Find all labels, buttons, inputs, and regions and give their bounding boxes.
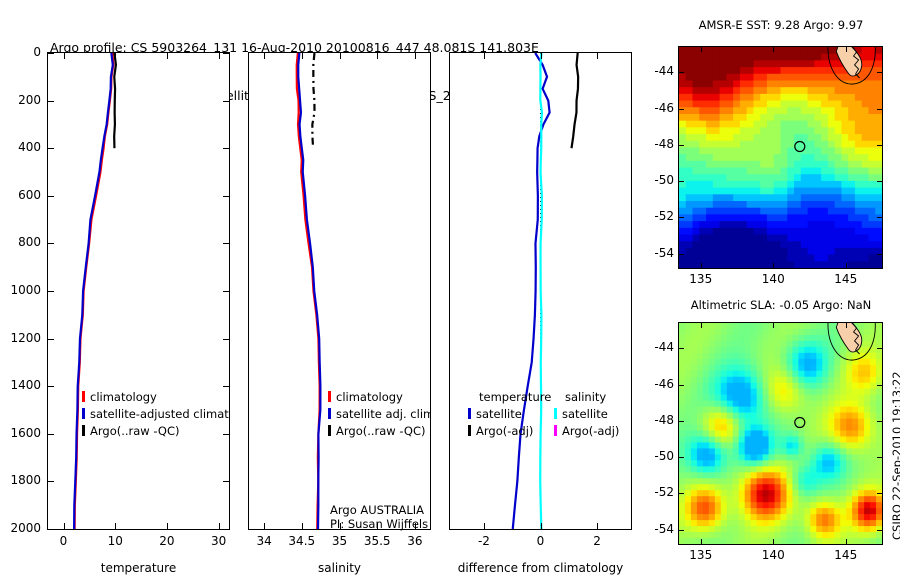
- sst-cell: [848, 154, 855, 161]
- sst-cell: [726, 101, 733, 108]
- sla-cell: [757, 490, 764, 497]
- sla-cell: [703, 377, 710, 384]
- sla-cell: [804, 335, 811, 342]
- sla-cell: [852, 442, 859, 449]
- sst-cell: [814, 235, 821, 242]
- sla-cell: [816, 496, 823, 503]
- sst-cell: [821, 47, 828, 54]
- sla-cell: [727, 431, 734, 438]
- sst-cell: [686, 235, 693, 242]
- sla-cell: [810, 425, 817, 432]
- sla-cell: [709, 502, 716, 509]
- sla-cell: [840, 383, 847, 390]
- sla-cell: [769, 365, 776, 372]
- sla-cell: [846, 454, 853, 461]
- sst-cell: [753, 74, 760, 81]
- difference-profile-curves: [450, 53, 631, 529]
- sla-cell: [834, 442, 841, 449]
- sla-cell: [864, 341, 871, 348]
- sla-cell: [709, 484, 716, 491]
- sst-cell: [821, 147, 828, 154]
- sla-cell: [679, 377, 686, 384]
- sla-cell: [792, 460, 799, 467]
- sst-cell: [848, 94, 855, 101]
- sla-cell: [828, 472, 835, 479]
- sst-cell: [828, 114, 835, 121]
- sst-cell: [781, 141, 788, 148]
- sla-cell: [757, 466, 764, 473]
- map-y-tick-label: -52: [644, 209, 674, 223]
- sla-cell: [769, 532, 776, 539]
- sla-cell: [715, 347, 722, 354]
- sla-cell: [757, 389, 764, 396]
- sst-cell: [726, 194, 733, 201]
- sla-cell: [727, 514, 734, 521]
- sst-cell: [753, 228, 760, 235]
- sla-cell: [763, 454, 770, 461]
- sst-cell: [760, 208, 767, 215]
- sla-cell: [781, 329, 788, 336]
- sst-cell: [767, 161, 774, 168]
- sla-cell: [852, 377, 859, 384]
- sla-cell: [697, 514, 704, 521]
- sla-map-raster: [679, 323, 882, 544]
- sla-cell: [733, 520, 740, 527]
- sla-cell: [739, 425, 746, 432]
- sla-cell: [822, 502, 829, 509]
- sst-cell: [753, 54, 760, 61]
- sla-cell: [763, 401, 770, 408]
- sst-cell: [794, 80, 801, 87]
- sla-cell: [709, 460, 716, 467]
- sla-cell: [679, 532, 686, 539]
- sst-cell: [774, 87, 781, 94]
- sla-cell: [763, 496, 770, 503]
- sst-map-title-wrap: AMSR-E SST: 9.28 Argo: 9.97: [672, 18, 890, 34]
- sst-cell: [753, 60, 760, 67]
- sla-cell: [852, 419, 859, 426]
- sla-cell: [709, 341, 716, 348]
- sst-cell: [808, 101, 815, 108]
- sla-cell: [757, 514, 764, 521]
- sla-cell: [876, 431, 882, 438]
- sst-cell: [713, 80, 720, 87]
- sla-cell: [858, 425, 865, 432]
- sst-cell: [848, 127, 855, 134]
- sla-cell: [727, 335, 734, 342]
- sst-cell: [774, 101, 781, 108]
- sla-cell: [733, 389, 740, 396]
- sla-cell: [781, 478, 788, 485]
- sst-cell: [787, 121, 794, 128]
- sla-cell: [691, 329, 698, 336]
- sst-cell: [747, 248, 754, 255]
- sst-cell: [686, 154, 693, 161]
- sst-cell: [835, 101, 842, 108]
- sla-cell: [727, 460, 734, 467]
- sst-cell: [740, 134, 747, 141]
- sla-cell: [828, 502, 835, 509]
- sla-cell: [715, 365, 722, 372]
- sla-cell: [834, 425, 841, 432]
- sst-cell: [747, 235, 754, 242]
- sla-cell: [834, 395, 841, 402]
- sla-cell: [834, 401, 841, 408]
- sla-cell: [834, 460, 841, 467]
- sst-cell: [767, 174, 774, 181]
- sla-cell: [828, 395, 835, 402]
- sst-cell: [794, 214, 801, 221]
- sst-cell: [760, 107, 767, 114]
- sla-cell: [763, 419, 770, 426]
- series-temperature-satellite: [513, 53, 550, 529]
- legend-item-salinity-satellite: satellite: [554, 407, 608, 421]
- sla-cell: [792, 359, 799, 366]
- sst-cell: [699, 87, 706, 94]
- sla-cell: [715, 383, 722, 390]
- sst-cell: [868, 241, 875, 248]
- sst-cell: [868, 154, 875, 161]
- sla-cell: [816, 389, 823, 396]
- axis-tick: [48, 529, 54, 530]
- sla-cell: [733, 448, 740, 455]
- sst-cell: [747, 107, 754, 114]
- sla-cell: [834, 478, 841, 485]
- sla-cell: [691, 514, 698, 521]
- sla-cell: [792, 484, 799, 491]
- sla-cell: [691, 389, 698, 396]
- sla-cell: [822, 472, 829, 479]
- map-axis-tick: [877, 457, 882, 458]
- sla-cell: [727, 508, 734, 515]
- sla-cell: [864, 460, 871, 467]
- sla-cell: [816, 514, 823, 521]
- sst-cell: [693, 67, 700, 74]
- sla-cell: [727, 407, 734, 414]
- sst-cell: [693, 248, 700, 255]
- sst-cell: [726, 80, 733, 87]
- sla-cell: [685, 442, 692, 449]
- axis-tick: [48, 339, 54, 340]
- sla-cell: [858, 383, 865, 390]
- sst-cell: [720, 241, 727, 248]
- map-axis-tick: [679, 457, 684, 458]
- sla-cell: [679, 353, 686, 360]
- sla-cell: [858, 442, 865, 449]
- sst-cell: [855, 174, 862, 181]
- sla-cell: [870, 532, 877, 539]
- sla-cell: [781, 365, 788, 372]
- sla-cell: [864, 520, 871, 527]
- sst-cell: [828, 134, 835, 141]
- sst-cell: [713, 261, 720, 268]
- sst-cell: [814, 114, 821, 121]
- sla-cell: [816, 448, 823, 455]
- axis-tick: [223, 529, 229, 530]
- sla-cell: [810, 395, 817, 402]
- sla-cell: [691, 371, 698, 378]
- map-axis-tick: [701, 263, 702, 268]
- sla-cell: [846, 395, 853, 402]
- sst-cell: [821, 121, 828, 128]
- legend-item-salinity-argo: Argo(-adj): [554, 424, 619, 438]
- sla-cell: [745, 448, 752, 455]
- sla-cell: [798, 478, 805, 485]
- sla-cell: [834, 371, 841, 378]
- sst-cell: [801, 221, 808, 228]
- sst-cell: [693, 168, 700, 175]
- sst-cell: [733, 147, 740, 154]
- sst-cell: [720, 161, 727, 168]
- depth-tick-label: 200: [0, 93, 41, 107]
- sla-cell: [757, 448, 764, 455]
- sla-cell: [685, 508, 692, 515]
- sla-cell: [822, 377, 829, 384]
- sla-cell: [739, 389, 746, 396]
- sla-cell: [828, 496, 835, 503]
- sla-cell: [798, 472, 805, 479]
- sla-cell: [727, 389, 734, 396]
- sst-cell: [767, 235, 774, 242]
- sla-cell: [792, 466, 799, 473]
- sla-cell: [834, 448, 841, 455]
- sla-cell: [828, 466, 835, 473]
- sst-cell: [740, 147, 747, 154]
- sst-cell: [733, 235, 740, 242]
- sst-cell: [828, 248, 835, 255]
- sla-cell: [769, 496, 776, 503]
- sst-cell: [828, 194, 835, 201]
- sla-cell: [691, 454, 698, 461]
- sla-cell: [697, 341, 704, 348]
- sla-cell: [876, 460, 882, 467]
- sla-cell: [870, 359, 877, 366]
- sst-cell: [693, 127, 700, 134]
- sst-cell: [787, 228, 794, 235]
- sla-cell: [840, 431, 847, 438]
- sla-cell: [840, 496, 847, 503]
- sst-cell: [828, 214, 835, 221]
- sla-cell: [870, 383, 877, 390]
- sla-cell: [757, 383, 764, 390]
- sla-cell: [709, 365, 716, 372]
- sla-cell: [751, 520, 758, 527]
- sla-cell: [697, 371, 704, 378]
- sst-cell: [808, 181, 815, 188]
- sla-cell: [691, 407, 698, 414]
- sla-cell: [775, 407, 782, 414]
- sla-cell: [870, 407, 877, 414]
- sla-cell: [691, 413, 698, 420]
- sst-cell: [848, 201, 855, 208]
- sla-cell: [703, 347, 710, 354]
- sst-cell: [767, 107, 774, 114]
- sst-cell: [794, 241, 801, 248]
- sla-cell: [751, 425, 758, 432]
- sst-cell: [862, 201, 869, 208]
- sst-cell: [814, 87, 821, 94]
- sst-cell: [814, 94, 821, 101]
- sst-cell: [686, 194, 693, 201]
- sst-cell: [875, 241, 882, 248]
- sst-cell: [686, 74, 693, 81]
- sla-cell: [816, 383, 823, 390]
- sst-cell: [726, 107, 733, 114]
- sla-cell: [810, 532, 817, 539]
- sla-cell: [792, 508, 799, 515]
- sst-cell: [855, 107, 862, 114]
- sst-cell: [875, 60, 882, 67]
- sla-cell: [840, 454, 847, 461]
- axis-tick: [48, 481, 54, 482]
- sst-cell: [868, 248, 875, 255]
- sla-cell: [834, 508, 841, 515]
- axis-tick: [219, 53, 220, 59]
- sla-cell: [864, 389, 871, 396]
- sst-cell: [848, 221, 855, 228]
- sla-cell: [697, 407, 704, 414]
- sla-cell: [798, 365, 805, 372]
- sst-cell: [706, 121, 713, 128]
- sst-cell: [787, 194, 794, 201]
- sst-cell: [868, 214, 875, 221]
- sla-cell: [781, 460, 788, 467]
- sst-map-panel[interactable]: [678, 46, 883, 269]
- sla-cell: [870, 365, 877, 372]
- sst-cell: [808, 134, 815, 141]
- sst-cell: [801, 241, 808, 248]
- sla-cell: [792, 323, 799, 330]
- sla-cell: [757, 431, 764, 438]
- sst-cell: [855, 214, 862, 221]
- sla-cell: [846, 466, 853, 473]
- salinity-plot-panel: [248, 52, 431, 530]
- sla-cell: [828, 365, 835, 372]
- sla-cell: [876, 359, 882, 366]
- sst-cell: [713, 74, 720, 81]
- sla-cell: [828, 520, 835, 527]
- sst-cell: [699, 194, 706, 201]
- sla-cell: [745, 347, 752, 354]
- sla-cell: [751, 383, 758, 390]
- sst-cell: [726, 154, 733, 161]
- sla-cell: [715, 502, 722, 509]
- sla-cell: [757, 526, 764, 533]
- sst-cell: [855, 154, 862, 161]
- sst-cell: [868, 101, 875, 108]
- sst-cell: [787, 261, 794, 268]
- sla-cell: [804, 401, 811, 408]
- sla-cell: [828, 442, 835, 449]
- sla-cell: [798, 454, 805, 461]
- sla-cell: [822, 526, 829, 533]
- sla-cell: [751, 389, 758, 396]
- sst-cell: [733, 121, 740, 128]
- sst-cell: [753, 248, 760, 255]
- sla-cell: [679, 413, 686, 420]
- sla-cell: [757, 484, 764, 491]
- sla-cell: [751, 341, 758, 348]
- credit-org: Argo AUSTRALIA: [330, 503, 428, 517]
- sst-cell: [747, 134, 754, 141]
- sla-cell: [816, 347, 823, 354]
- sst-cell: [862, 241, 869, 248]
- sst-cell: [821, 101, 828, 108]
- sla-cell: [721, 520, 728, 527]
- sst-cell: [875, 101, 882, 108]
- sst-cell: [862, 255, 869, 262]
- sst-cell: [733, 255, 740, 262]
- sst-cell: [747, 255, 754, 262]
- sla-cell: [804, 460, 811, 467]
- map-y-tick-label: -50: [644, 173, 674, 187]
- sst-cell: [835, 141, 842, 148]
- sla-cell: [769, 520, 776, 527]
- sla-cell: [846, 431, 853, 438]
- map-axis-tick: [773, 323, 774, 328]
- sst-cell: [868, 174, 875, 181]
- sst-cell: [828, 141, 835, 148]
- map-axis-tick: [701, 47, 702, 52]
- sst-cell: [767, 147, 774, 154]
- sst-cell: [699, 121, 706, 128]
- sst-cell: [720, 60, 727, 67]
- sst-cell: [868, 228, 875, 235]
- sst-cell: [862, 67, 869, 74]
- sla-cell: [804, 454, 811, 461]
- sst-cell: [848, 161, 855, 168]
- sla-cell: [858, 532, 865, 539]
- sla-cell: [864, 496, 871, 503]
- sla-cell: [858, 401, 865, 408]
- sst-cell: [794, 248, 801, 255]
- sla-cell: [763, 478, 770, 485]
- map-x-tick-label: 140: [748, 272, 798, 286]
- sst-cell: [862, 208, 869, 215]
- map-axis-tick: [679, 493, 684, 494]
- sla-cell: [798, 329, 805, 336]
- credit-pi: PI: Susan Wijffels: [330, 517, 428, 531]
- sla-cell: [739, 454, 746, 461]
- sla-cell: [733, 323, 740, 330]
- sst-cell: [868, 74, 875, 81]
- sla-cell: [739, 341, 746, 348]
- sla-cell: [709, 431, 716, 438]
- sla-cell: [733, 419, 740, 426]
- sla-cell: [864, 478, 871, 485]
- sst-cell: [808, 261, 815, 268]
- sla-cell: [822, 365, 829, 372]
- sla-cell: [745, 484, 752, 491]
- sst-cell: [848, 107, 855, 114]
- sla-cell: [685, 460, 692, 467]
- sla-cell: [733, 466, 740, 473]
- sst-cell: [808, 255, 815, 262]
- sla-cell: [679, 436, 686, 443]
- sla-cell: [697, 490, 704, 497]
- sst-cell: [740, 214, 747, 221]
- sla-map-panel[interactable]: [678, 322, 883, 545]
- sst-cell: [720, 181, 727, 188]
- sst-cell: [679, 127, 686, 134]
- sla-cell: [870, 526, 877, 533]
- sla-cell: [703, 401, 710, 408]
- sla-cell: [798, 407, 805, 414]
- sla-cell: [703, 502, 710, 509]
- sla-cell: [739, 442, 746, 449]
- sla-cell: [685, 413, 692, 420]
- sla-cell: [769, 478, 776, 485]
